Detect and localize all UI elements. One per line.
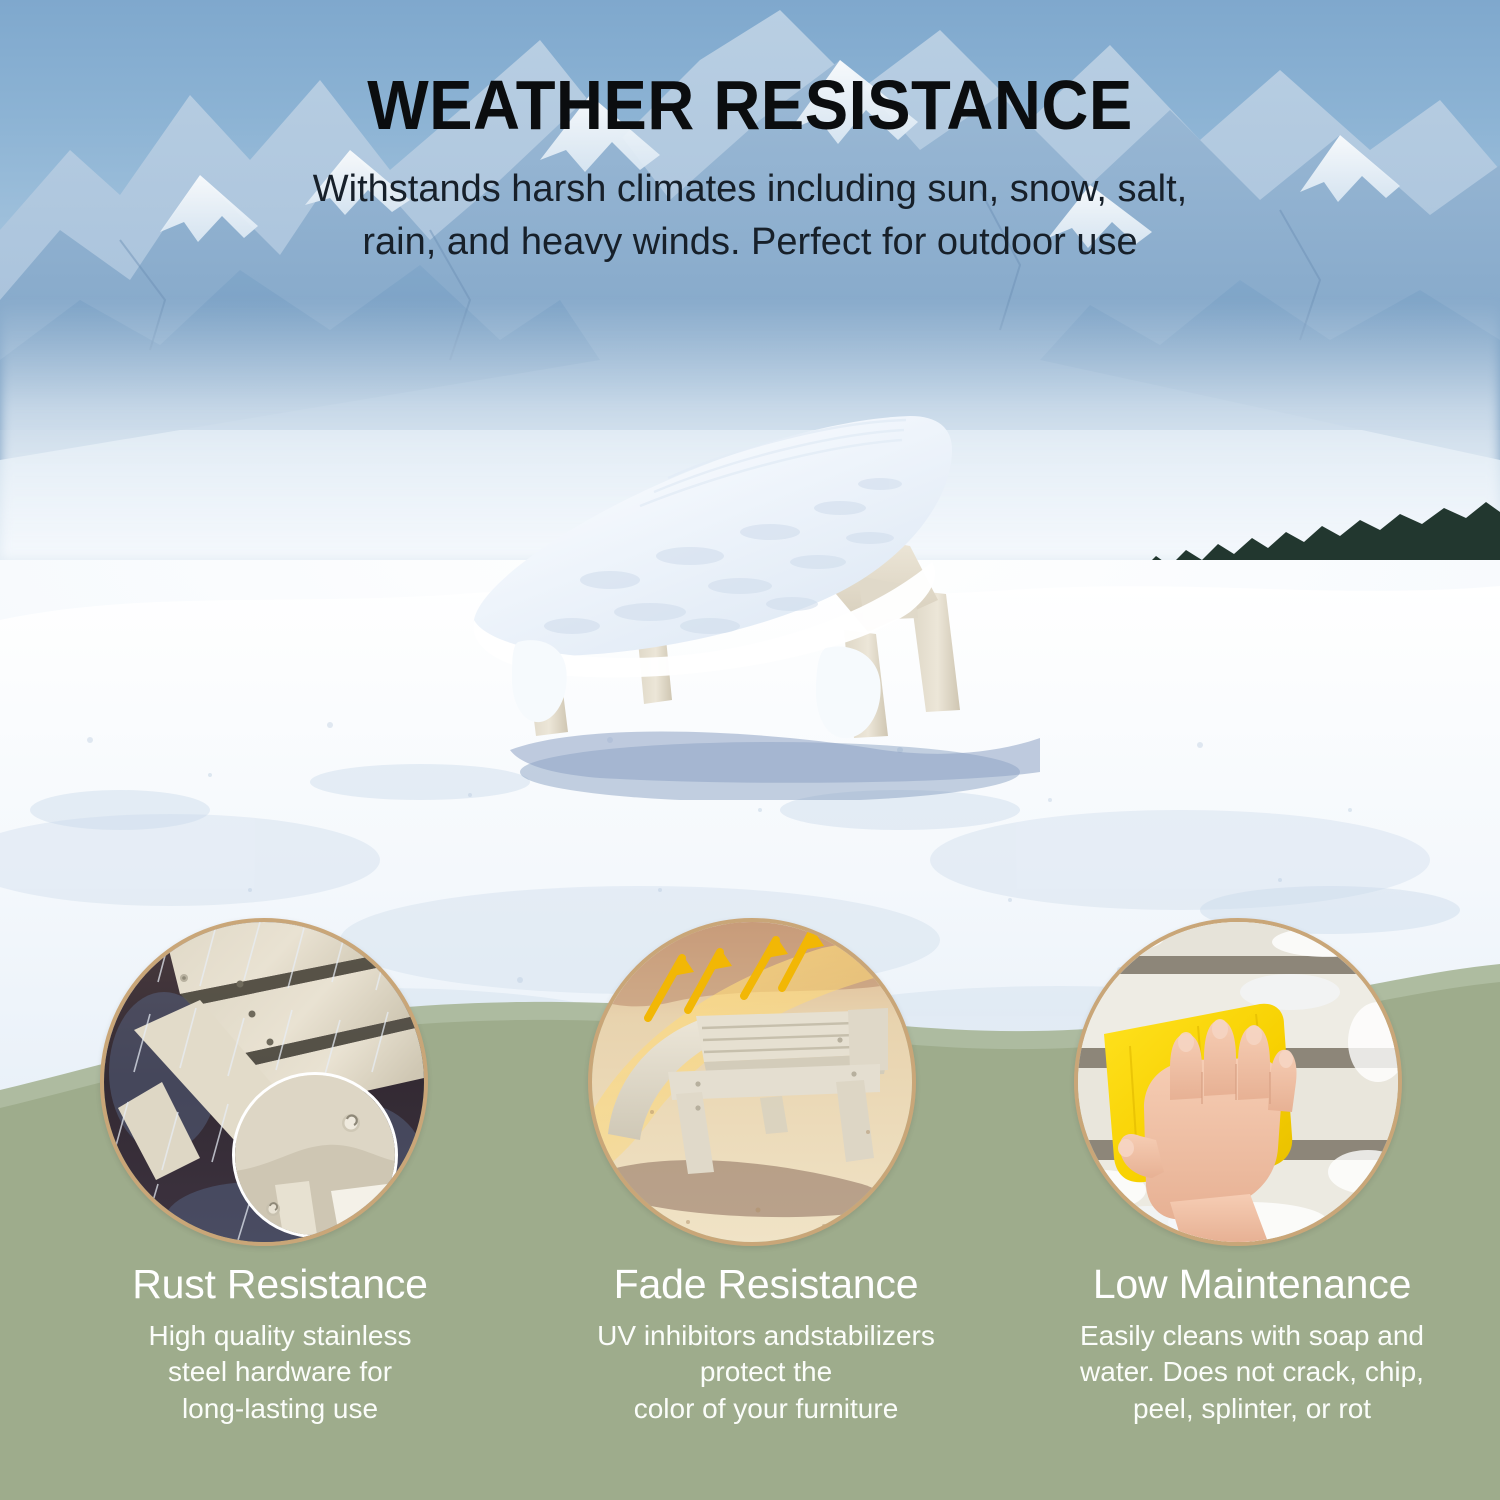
subtitle-line-1: Withstands harsh climates including sun,… — [313, 168, 1187, 210]
page-subtitle: Withstands harsh climates including sun,… — [225, 163, 1275, 268]
feature-body-line-3: peel, splinter, or rot — [1133, 1393, 1371, 1424]
feature-body-line-2: steel hardware for — [168, 1356, 392, 1387]
feature-image-rust-resistance — [100, 918, 428, 1246]
snow-covered-ottoman — [440, 380, 1080, 800]
feature-caption-low-maintenance: Low Maintenance Easily cleans with soap … — [1032, 1262, 1472, 1427]
feature-title: Rust Resistance — [60, 1262, 500, 1308]
feature-body-line-2: water. Does not crack, chip, — [1080, 1356, 1424, 1387]
feature-body: UV inhibitors andstabilizers protect the… — [546, 1318, 986, 1427]
page-title: WEATHER RESISTANCE — [53, 70, 1448, 141]
feature-caption-fade-resistance: Fade Resistance UV inhibitors andstabili… — [546, 1262, 986, 1427]
feature-caption-rust-resistance: Rust Resistance High quality stainless s… — [60, 1262, 500, 1427]
feature-body-line-1: High quality stainless — [148, 1320, 411, 1351]
feature-body-line-1: Easily cleans with soap and — [1080, 1320, 1424, 1351]
feature-body: Easily cleans with soap and water. Does … — [1032, 1318, 1472, 1427]
feature-image-fade-resistance — [588, 918, 916, 1246]
feature-body-line-3: color of your furniture — [634, 1393, 899, 1424]
feature-body-line-3: long-lasting use — [182, 1393, 378, 1424]
magnified-screw-inset — [232, 1072, 398, 1238]
feature-image-low-maintenance — [1074, 918, 1402, 1246]
feature-body: High quality stainless steel hardware fo… — [60, 1318, 500, 1427]
feature-title: Fade Resistance — [546, 1262, 986, 1308]
product-feature-graphic: WEATHER RESISTANCE Withstands harsh clim… — [0, 0, 1500, 1500]
header-block: WEATHER RESISTANCE Withstands harsh clim… — [0, 70, 1500, 268]
feature-title: Low Maintenance — [1032, 1262, 1472, 1308]
subtitle-line-2: rain, and heavy winds. Perfect for outdo… — [362, 221, 1137, 263]
feature-body-line-1: UV inhibitors andstabilizers — [597, 1320, 935, 1351]
feature-body-line-2: protect the — [700, 1356, 832, 1387]
